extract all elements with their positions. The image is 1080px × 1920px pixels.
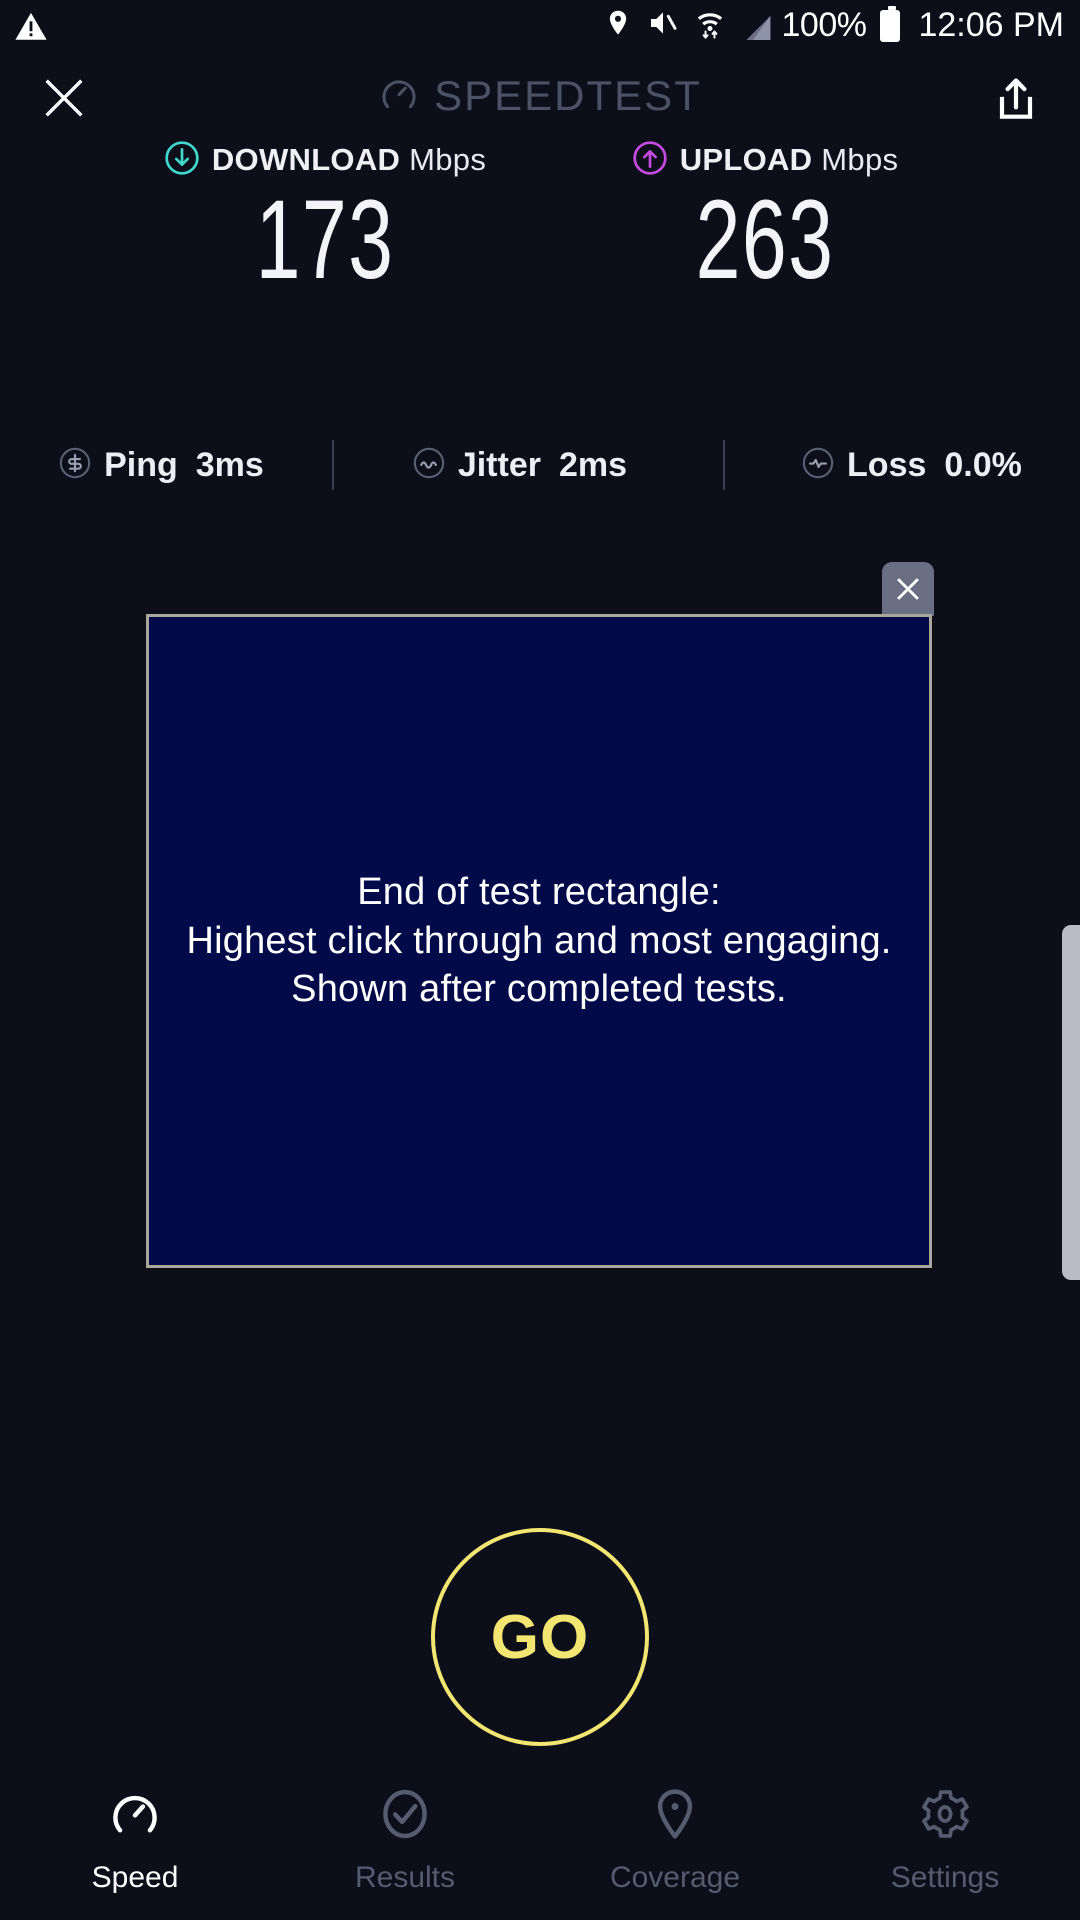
download-value: 173	[188, 184, 462, 296]
loss-value: 0.0%	[944, 446, 1022, 485]
jitter-icon	[412, 446, 446, 485]
warning-triangle-icon	[14, 10, 48, 49]
nav-label-speed: Speed	[92, 1861, 179, 1895]
bottom-navigation: Speed Results Coverage	[0, 1760, 1080, 1920]
speedometer-icon	[107, 1786, 163, 1847]
nav-label-results: Results	[355, 1861, 455, 1895]
nav-label-coverage: Coverage	[610, 1861, 740, 1895]
ping-label: Ping	[104, 446, 178, 485]
wifi-data-icon	[694, 6, 726, 45]
ping-icon	[58, 446, 92, 485]
download-arrow-icon	[164, 140, 200, 181]
results-panel: DOWNLOAD Mbps 173 UPLOAD	[0, 140, 1080, 296]
loss-label: Loss	[847, 446, 926, 485]
download-metric: DOWNLOAD Mbps 173	[135, 140, 515, 296]
divider	[723, 440, 725, 490]
nav-item-coverage[interactable]: Coverage	[540, 1786, 810, 1895]
speedometer-logo-icon	[378, 73, 420, 120]
go-button-label: GO	[491, 1602, 589, 1673]
ad-text: End of test rectangle: Highest click thr…	[186, 868, 891, 1014]
jitter-label: Jitter	[458, 446, 541, 485]
jitter-metric: Jitter 2ms	[412, 446, 627, 485]
upload-metric: UPLOAD Mbps 263	[575, 140, 955, 296]
clock-label: 12:06 PM	[918, 6, 1064, 45]
nav-item-settings[interactable]: Settings	[810, 1786, 1080, 1895]
jitter-value: 2ms	[559, 446, 627, 485]
vertical-scrollbar[interactable]	[1062, 925, 1080, 1280]
upload-value: 263	[628, 184, 902, 296]
page-title: SPEEDTEST	[434, 72, 702, 120]
ping-value: 3ms	[196, 446, 264, 485]
loss-metric: Loss 0.0%	[801, 446, 1022, 485]
upload-arrow-icon	[632, 140, 668, 181]
upload-label: UPLOAD Mbps	[680, 142, 899, 178]
ping-metric: Ping 3ms	[58, 446, 264, 485]
battery-full-icon	[880, 10, 900, 42]
download-label: DOWNLOAD Mbps	[212, 142, 486, 178]
battery-percent-label: 100%	[782, 6, 867, 45]
ping-jitter-loss-row: Ping 3ms Jitter 2ms	[0, 440, 1080, 490]
share-icon[interactable]	[988, 70, 1044, 126]
gear-icon	[917, 1786, 973, 1847]
cellular-signal-icon	[740, 12, 768, 40]
nav-item-results[interactable]: Results	[270, 1786, 540, 1895]
go-button[interactable]: GO	[431, 1528, 649, 1746]
app-header: SPEEDTEST	[0, 58, 1080, 138]
brand: SPEEDTEST	[0, 72, 1080, 120]
location-pin-icon	[604, 6, 632, 45]
status-bar: 100% 12:06 PM	[0, 0, 1080, 58]
map-pin-icon	[647, 1786, 703, 1847]
ad-close-button[interactable]	[882, 562, 934, 616]
divider	[332, 440, 334, 490]
advertisement-banner[interactable]: End of test rectangle: Highest click thr…	[146, 614, 932, 1268]
loss-icon	[801, 446, 835, 485]
speedtest-app-screen: 100% 12:06 PM SPEEDTEST	[0, 0, 1080, 1920]
volume-muted-icon	[646, 7, 680, 44]
nav-label-settings: Settings	[891, 1861, 999, 1895]
nav-item-speed[interactable]: Speed	[0, 1786, 270, 1895]
status-icons: 100% 12:06 PM	[604, 6, 1065, 45]
check-circle-icon	[377, 1786, 433, 1847]
